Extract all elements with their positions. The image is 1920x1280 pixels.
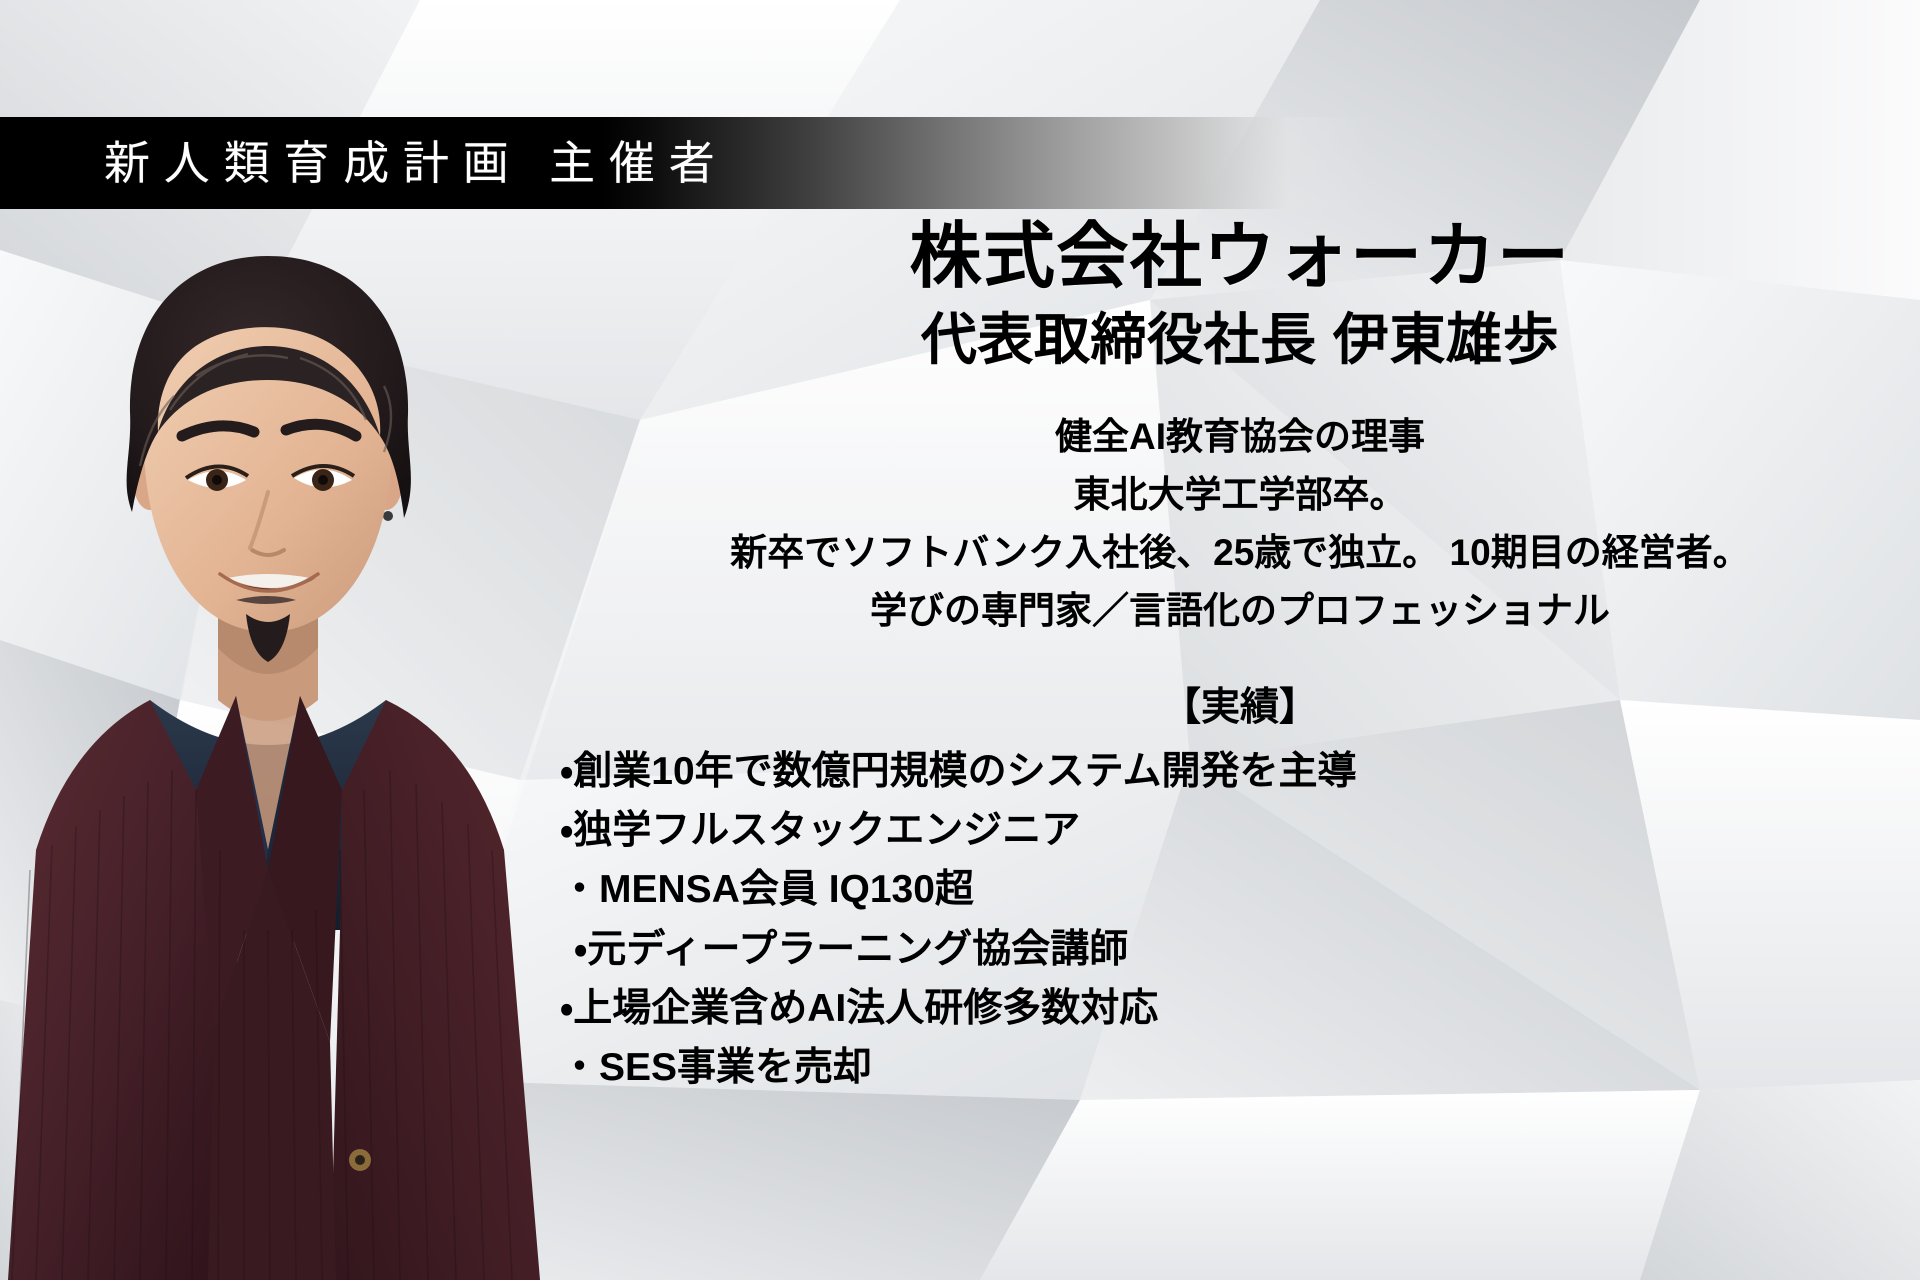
bio-line-4: 学びの専門家／言語化のプロフェッショナル [560,582,1920,640]
achievement-item: ・元ディープラーニング協会講師 [560,920,1920,979]
achievement-item: ・MENSA会員 IQ130超 [560,860,1920,919]
bullet-icon: ・ [560,809,573,852]
bullet-icon: ・ [560,1046,599,1089]
bio-block: 健全AI教育協会の理事 東北大学工学部卒。 新卒でソフトバンク入社後、25歳で独… [560,408,1920,639]
achievement-text: 創業10年で数億円規模のシステム開発を主導 [573,750,1356,793]
bullet-icon: ・ [560,868,599,911]
bio-line-2: 東北大学工学部卒。 [560,466,1920,524]
bullet-icon: ・ [560,750,573,793]
role-and-name: 代表取締役社長 伊東雄歩 [560,306,1920,374]
achievement-text: SES事業を売却 [599,1046,872,1089]
bio-line-1: 健全AI教育協会の理事 [560,408,1920,466]
company-name: 株式会社ウォーカー [560,216,1920,298]
achievement-text: 上場企業含めAI法人研修多数対応 [573,987,1158,1030]
achievement-text: 元ディープラーニング協会講師 [587,928,1128,971]
banner-bar: 新人類育成計画 主催者 [0,117,1370,209]
achievements-heading: 【実績】 [560,683,1920,734]
slide-canvas: 新人類育成計画 主催者 [0,0,1920,1280]
bullet-icon: ・ [560,987,573,1030]
banner-title: 新人類育成計画 主催者 [0,140,729,186]
achievement-text: MENSA会員 IQ130超 [599,868,974,911]
achievement-item: ・SES事業を売却 [560,1038,1920,1097]
profile-text-block: 株式会社ウォーカー 代表取締役社長 伊東雄歩 健全AI教育協会の理事 東北大学工… [560,216,1920,1098]
achievements-list: ・創業10年で数億円規模のシステム開発を主導 ・独学フルスタックエンジニア ・M… [560,742,1920,1098]
achievement-item: ・独学フルスタックエンジニア [560,801,1920,860]
achievement-item: ・上場企業含めAI法人研修多数対応 [560,979,1920,1038]
portrait-photo [0,230,560,1280]
bio-line-3: 新卒でソフトバンク入社後、25歳で独立。 10期目の経営者。 [560,524,1920,582]
achievement-text: 独学フルスタックエンジニア [573,809,1080,852]
achievement-item: ・創業10年で数億円規模のシステム開発を主導 [560,742,1920,801]
bullet-icon: ・ [574,928,587,971]
